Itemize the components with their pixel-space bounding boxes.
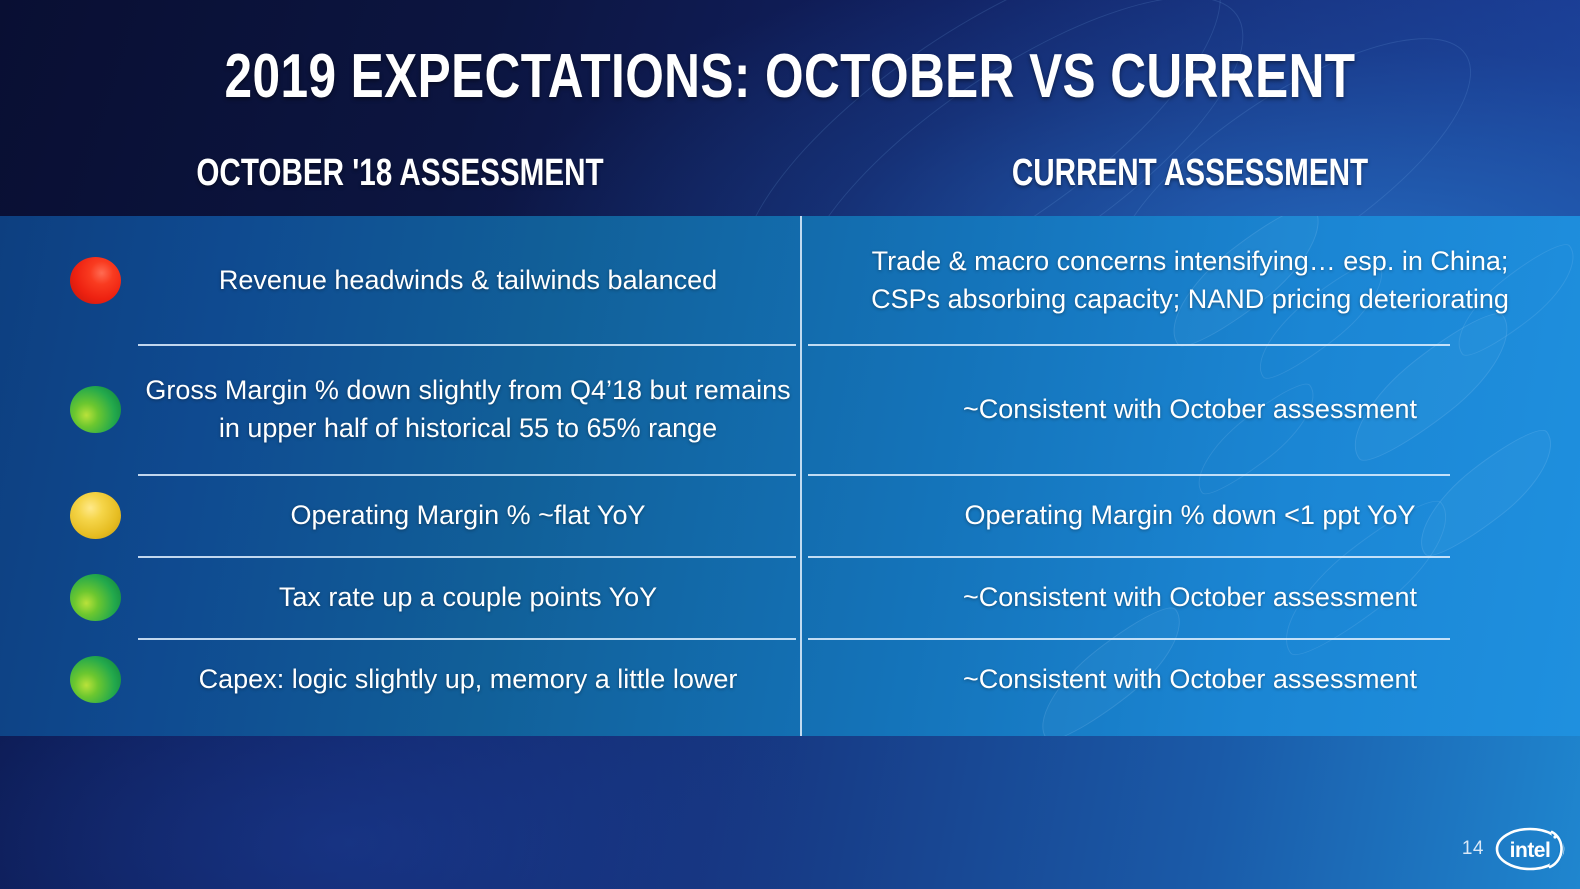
status-indicator-green: [70, 386, 121, 433]
status-indicator-amber: [70, 492, 121, 539]
status-indicator-green: [70, 656, 121, 703]
row-current-cell: ~Consistent with October assessment: [800, 344, 1580, 474]
intel-logo-icon: intel: [1492, 822, 1568, 876]
row-october-cell: Revenue headwinds & tailwinds balanced: [0, 216, 800, 344]
table-row: Revenue headwinds & tailwinds balanced T…: [0, 216, 1580, 344]
row-current-cell: ~Consistent with October assessment: [800, 638, 1580, 720]
row-october-cell: Gross Margin % down slightly from Q4’18 …: [0, 344, 800, 474]
svg-text:intel: intel: [1510, 839, 1551, 862]
row-current-cell: ~Consistent with October assessment: [800, 556, 1580, 638]
row-current-cell: Trade & macro concerns intensifying… esp…: [800, 216, 1580, 344]
october-assessment-text: Tax rate up a couple points YoY: [138, 578, 798, 616]
slide-title: 2019 EXPECTATIONS: OCTOBER VS CURRENT: [158, 42, 1422, 112]
row-october-cell: Tax rate up a couple points YoY: [0, 556, 800, 638]
current-assessment-text: ~Consistent with October assessment: [850, 578, 1530, 616]
row-current-cell: Operating Margin % down <1 ppt YoY: [800, 474, 1580, 556]
comparison-table: Revenue headwinds & tailwinds balanced T…: [0, 216, 1580, 736]
status-indicator-green: [70, 574, 121, 621]
table-row: Operating Margin % ~flat YoY Operating M…: [0, 474, 1580, 556]
row-october-cell: Operating Margin % ~flat YoY: [0, 474, 800, 556]
october-assessment-text: Gross Margin % down slightly from Q4’18 …: [138, 371, 798, 447]
slide-header: 2019 EXPECTATIONS: OCTOBER VS CURRENT OC…: [0, 0, 1580, 216]
current-assessment-text: ~Consistent with October assessment: [850, 660, 1530, 698]
page-number: 14: [1462, 838, 1484, 860]
presentation-slide: 2019 EXPECTATIONS: OCTOBER VS CURRENT OC…: [0, 0, 1580, 889]
table-row: Tax rate up a couple points YoY ~Consist…: [0, 556, 1580, 638]
status-indicator-red: [70, 257, 121, 304]
october-assessment-text: Operating Margin % ~flat YoY: [138, 496, 798, 534]
october-assessment-text: Revenue headwinds & tailwinds balanced: [138, 261, 798, 299]
column-heading-current: CURRENT ASSESSMENT: [886, 150, 1494, 196]
october-assessment-text: Capex: logic slightly up, memory a littl…: [138, 660, 798, 698]
column-heading-october: OCTOBER '18 ASSESSMENT: [88, 150, 712, 196]
slide-footer: [0, 736, 1580, 889]
current-assessment-text: Operating Margin % down <1 ppt YoY: [850, 496, 1530, 534]
row-october-cell: Capex: logic slightly up, memory a littl…: [0, 638, 800, 720]
table-row: Gross Margin % down slightly from Q4’18 …: [0, 344, 1580, 474]
current-assessment-text: Trade & macro concerns intensifying… esp…: [850, 242, 1530, 318]
table-row: Capex: logic slightly up, memory a littl…: [0, 638, 1580, 720]
current-assessment-text: ~Consistent with October assessment: [850, 390, 1530, 428]
